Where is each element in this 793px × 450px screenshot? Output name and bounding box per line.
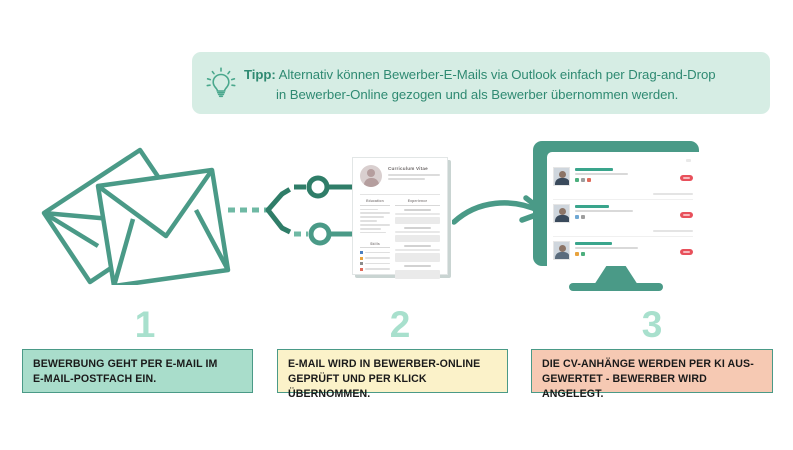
pdf-icon[interactable]	[587, 178, 591, 182]
skill-bullet-icon	[360, 268, 363, 271]
skill-bullet-icon	[360, 257, 363, 260]
candidate-photo	[553, 167, 570, 186]
candidate-photo	[553, 241, 570, 260]
caption-line-1: BEWERBUNG GEHT PER E-MAIL IM	[33, 357, 243, 372]
cv-placeholder-line	[395, 213, 440, 215]
cv-right-column: Experience	[395, 199, 440, 282]
cv-columns: Education Skills	[360, 199, 440, 282]
check-icon[interactable]	[581, 252, 585, 256]
cv-placeholder-line	[360, 232, 386, 234]
cv-section-underline	[395, 205, 440, 206]
doc-icon[interactable]	[581, 215, 585, 219]
cv-entry-block	[395, 253, 440, 262]
cv-section-underline	[360, 205, 390, 206]
caption-line-1: E-MAIL WIRD IN BEWERBER-ONLINE	[288, 357, 498, 372]
cv-placeholder-line	[395, 231, 440, 233]
candidate-name	[575, 242, 612, 245]
photo-body	[555, 215, 570, 223]
candidate-info	[575, 204, 648, 219]
cv-placeholder-line	[365, 257, 390, 259]
envelopes-icon	[36, 140, 251, 285]
status-badge	[680, 249, 693, 255]
cv-placeholder-line	[395, 249, 440, 251]
caption-line-2: GEPRÜFT UND PER KLICK ÜBERNOMMEN.	[288, 372, 498, 402]
infographic-canvas: Tipp: Alternativ können Bewerber-E-Mails…	[0, 0, 793, 450]
caption-line-2: E-MAIL-POSTFACH EIN.	[33, 372, 243, 387]
cv-entry-block	[395, 235, 440, 242]
candidate-row[interactable]	[553, 237, 693, 266]
cv-placeholder-line	[360, 212, 390, 214]
status-badge	[680, 212, 693, 218]
step-caption-2: E-MAIL WIRD IN BEWERBER-ONLINE GEPRÜFT U…	[277, 349, 508, 393]
candidate-row[interactable]	[553, 163, 693, 200]
candidate-status	[653, 241, 693, 266]
cv-entry-title	[404, 245, 430, 247]
cv-entry-title	[404, 227, 430, 229]
cv-placeholder-line	[388, 178, 425, 180]
cv-header: Curriculum Vitae	[360, 165, 440, 191]
monitor-candidate-list	[533, 141, 699, 306]
photo-head	[559, 245, 566, 252]
candidate-subtitle	[575, 210, 633, 212]
cv-entry-block	[395, 217, 440, 224]
cv-placeholder-line	[365, 263, 390, 265]
skill-bullet-icon	[360, 251, 363, 254]
step-number-1: 1	[115, 306, 175, 344]
tip-line-1: Alternativ können Bewerber-E-Mails via O…	[279, 67, 716, 82]
app-toolbar	[553, 158, 693, 163]
candidate-status	[653, 167, 693, 195]
cv-skill-item	[360, 262, 390, 265]
tip-text: Tipp: Alternativ können Bewerber-E-Mails…	[238, 62, 716, 104]
warning-icon[interactable]	[575, 252, 579, 256]
status-badge	[680, 175, 693, 181]
cv-section-underline	[360, 247, 390, 248]
cv-section-education: Education	[360, 199, 390, 203]
branch-connector	[228, 172, 358, 248]
cv-placeholder-line	[365, 268, 390, 270]
candidate-action-icons[interactable]	[575, 178, 648, 182]
candidate-meta-line	[653, 193, 693, 195]
photo-head	[559, 208, 566, 215]
check-icon[interactable]	[575, 178, 579, 182]
info-icon[interactable]	[575, 215, 579, 219]
cv-divider	[360, 194, 440, 195]
cv-placeholder-line	[365, 252, 390, 254]
cv-entry-title	[404, 209, 430, 211]
cv-title: Curriculum Vitae	[388, 166, 440, 171]
candidate-info	[575, 167, 648, 182]
cv-placeholder-line	[360, 228, 381, 230]
candidate-meta-line	[653, 230, 693, 232]
cv-left-column: Education Skills	[360, 199, 390, 282]
cv-entry-block	[395, 270, 440, 279]
monitor-screen	[547, 152, 699, 266]
cv-skill-item	[360, 257, 390, 260]
skill-bullet-icon	[360, 262, 363, 265]
cv-document: Curriculum Vitae Education	[352, 157, 448, 275]
step-caption-3: DIE CV-ANHÄNGE WERDEN PER KI AUS- GEWERT…	[531, 349, 773, 393]
candidate-row[interactable]	[553, 200, 693, 237]
candidate-action-icons[interactable]	[575, 215, 648, 219]
cv-placeholder-line	[360, 216, 384, 218]
cv-placeholder-line	[360, 224, 390, 226]
caption-line-2: GEWERTET - BEWERBER WIRD ANGELEGT.	[542, 372, 763, 402]
caption-line-1: DIE CV-ANHÄNGE WERDEN PER KI AUS-	[542, 357, 763, 372]
tip-label: Tipp:	[244, 67, 276, 82]
step-number-3: 3	[622, 306, 682, 344]
cv-entry-title	[404, 265, 430, 267]
photo-body	[555, 252, 570, 260]
candidate-action-icons[interactable]	[575, 252, 648, 256]
photo-head	[559, 171, 566, 178]
candidate-status	[653, 204, 693, 232]
doc-icon[interactable]	[581, 178, 585, 182]
photo-body	[555, 178, 570, 186]
person-avatar	[360, 165, 382, 187]
step-caption-1: BEWERBUNG GEHT PER E-MAIL IM E-MAIL-POST…	[22, 349, 253, 393]
cv-placeholder-line	[360, 209, 378, 211]
candidate-subtitle	[575, 173, 628, 175]
cv-placeholder-line	[388, 174, 440, 176]
cv-section-experience: Experience	[395, 199, 440, 203]
cv-skill-item	[360, 268, 390, 271]
candidate-name	[575, 168, 613, 171]
lightbulb-icon	[204, 63, 238, 103]
tip-banner: Tipp: Alternativ können Bewerber-E-Mails…	[192, 52, 770, 114]
cv-header-text: Curriculum Vitae	[388, 165, 440, 180]
cv-document-page: Curriculum Vitae Education	[352, 157, 448, 275]
candidate-photo	[553, 204, 570, 223]
step-number-2: 2	[370, 306, 430, 344]
monitor-stand-base	[569, 283, 663, 291]
candidate-name	[575, 205, 609, 208]
candidate-subtitle	[575, 247, 638, 249]
candidate-info	[575, 241, 648, 256]
cv-section-skills: Skills	[360, 242, 390, 246]
cv-skill-item	[360, 251, 390, 254]
tip-line-2: in Bewerber-Online gezogen und als Bewer…	[244, 85, 716, 105]
cv-placeholder-line	[360, 220, 377, 222]
